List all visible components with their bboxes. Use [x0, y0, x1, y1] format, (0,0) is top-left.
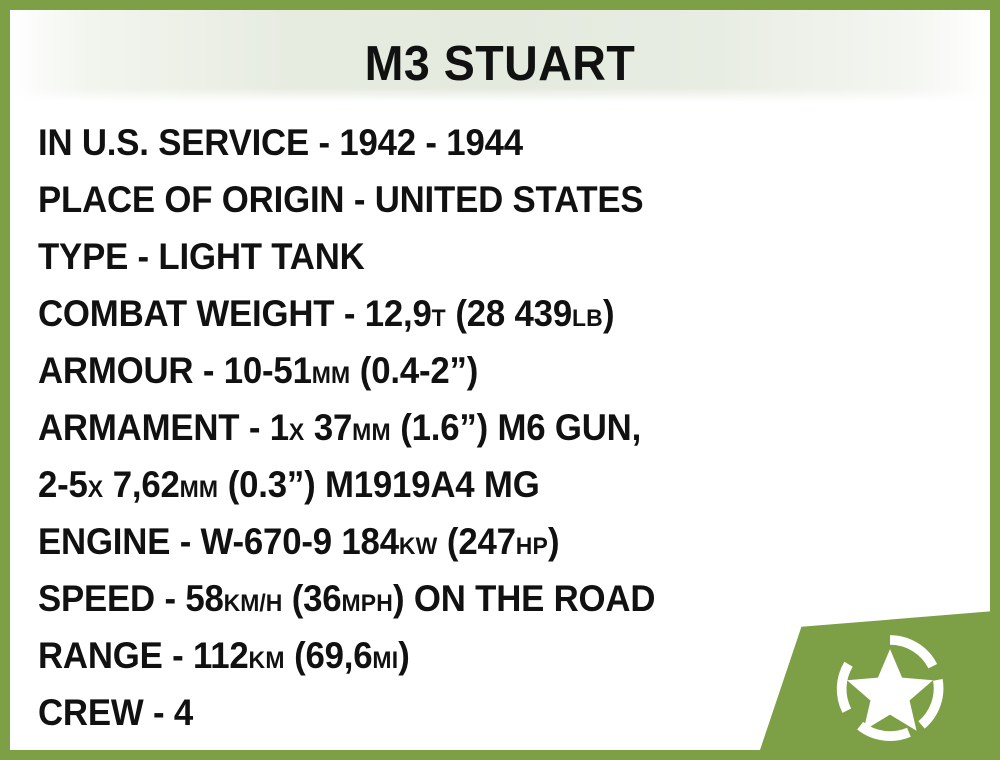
spec-unit-miles: MI [372, 647, 398, 674]
spec-unit-kilowatts: KW [399, 533, 438, 560]
spec-text-tail: ) ON THE ROAD [393, 578, 655, 619]
spec-unit-multiplier: X [289, 419, 304, 446]
spec-unit-pounds: LB [572, 305, 603, 332]
spec-line-engine: ENGINE - W-670-9 184KW (247HP) [38, 513, 912, 570]
spec-line-type: TYPE - LIGHT TANK [38, 228, 912, 285]
spec-unit-kilometres: KM [249, 647, 285, 674]
spec-text-main: COMBAT WEIGHT - 12,9 [38, 293, 432, 334]
spec-text-main: RANGE - 112 [38, 635, 249, 676]
spec-text-mid: 37 [304, 407, 352, 448]
spec-text-mid: (69,6 [285, 635, 373, 676]
spec-unit-multiplier: X [88, 476, 103, 503]
spec-text-tail: ) [603, 293, 614, 334]
spec-unit-millimetres: MM [180, 476, 219, 503]
spec-text: IN U.S. SERVICE - 1942 - 1944 [38, 122, 523, 163]
spec-text-mid: (36 [282, 578, 341, 619]
spec-card-body: M3 STUART IN U.S. SERVICE - 1942 - 1944 … [10, 10, 990, 750]
spec-text-main: ENGINE - W-670-9 184 [38, 521, 399, 562]
spec-line-combat-weight: COMBAT WEIGHT - 12,9T (28 439LB) [38, 285, 912, 342]
spec-text-mid: (0.4-2”) [350, 350, 478, 391]
spec-text-tail: (1.6”) M6 GUN, [391, 407, 641, 448]
spec-text: PLACE OF ORIGIN - UNITED STATES [38, 179, 643, 220]
spec-unit-mph: MPH [341, 590, 393, 617]
spec-line-armour: ARMOUR - 10-51MM (0.4-2”) [38, 342, 912, 399]
spec-text-main: ARMOUR - 10-51 [38, 350, 312, 391]
spec-text: TYPE - LIGHT TANK [38, 236, 365, 277]
spec-text-main: 2-5 [38, 464, 88, 505]
spec-text-main: ARMAMENT - 1 [38, 407, 289, 448]
spec-line-armament-secondary: 2-5X 7,62MM (0.3”) M1919A4 MG [38, 456, 912, 513]
spec-text-tail: ) [398, 635, 409, 676]
spec-text: CREW - 4 [38, 692, 193, 733]
spec-line-in-us-service: IN U.S. SERVICE - 1942 - 1944 [38, 114, 912, 171]
spec-line-place-of-origin: PLACE OF ORIGIN - UNITED STATES [38, 171, 912, 228]
spec-line-armament-primary: ARMAMENT - 1X 37MM (1.6”) M6 GUN, [38, 399, 912, 456]
allied-star-in-circle-icon [836, 634, 944, 742]
spec-text-main: SPEED - 58 [38, 578, 224, 619]
spec-unit-millimetres: MM [352, 419, 391, 446]
spec-unit-horsepower: HP [516, 533, 548, 560]
spec-text-mid: (247 [437, 521, 515, 562]
spec-text-tail: (0.3”) M1919A4 MG [218, 464, 539, 505]
spec-unit-tonnes: T [432, 305, 446, 332]
page-title: M3 STUART [35, 36, 966, 92]
spec-card: M3 STUART IN U.S. SERVICE - 1942 - 1944 … [0, 0, 1000, 760]
spec-unit-millimetres: MM [312, 362, 351, 389]
spec-text-mid: (28 439 [446, 293, 572, 334]
spec-text-mid: 7,62 [103, 464, 179, 505]
spec-text-tail: ) [548, 521, 559, 562]
spec-unit-kmh: KM/H [224, 590, 283, 617]
corner-badge [760, 610, 990, 750]
